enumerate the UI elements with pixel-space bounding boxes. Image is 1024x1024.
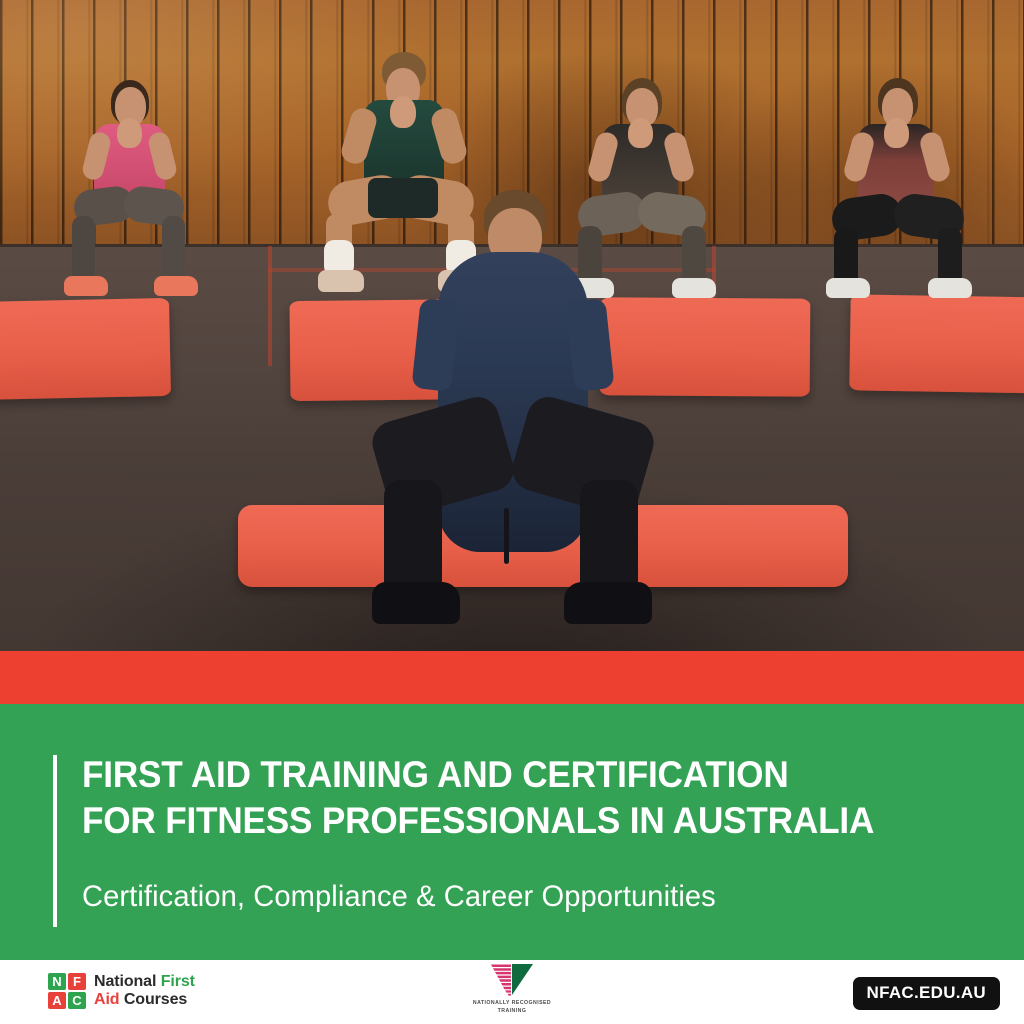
participant-1-shoe-left	[64, 276, 108, 296]
participant-4-shoe-right	[928, 278, 972, 298]
green-content-panel: FIRST AID TRAINING AND CERTIFICATION FOR…	[0, 704, 1024, 960]
participant-4-shoe-left	[826, 278, 870, 298]
participant-1-shoe-right	[154, 276, 198, 296]
page-title-line-2: FOR FITNESS PROFESSIONALS IN AUSTRALIA	[82, 798, 937, 844]
page-title-line-1: FIRST AID TRAINING AND CERTIFICATION	[82, 752, 937, 798]
page-title: FIRST AID TRAINING AND CERTIFICATION FOR…	[82, 752, 937, 844]
nrt-triangle-icon	[489, 964, 535, 998]
instructor-shoe-right	[564, 582, 652, 624]
red-divider-band	[0, 651, 1024, 704]
participant-1-shin-left	[72, 216, 95, 284]
white-accent-bar	[53, 755, 57, 927]
instructor-arm-right	[565, 298, 614, 392]
nrt-caption: Nationally Recognised Training	[473, 1000, 551, 1016]
exercise-mat-4	[849, 294, 1024, 393]
participant-3-shoe-right	[672, 278, 716, 298]
promo-poster: FIRST AID TRAINING AND CERTIFICATION FOR…	[0, 0, 1024, 1024]
participant-4-hands	[884, 118, 909, 148]
floor-court-line-left	[268, 246, 272, 366]
participant-1	[62, 80, 197, 300]
nrt-caption-line-2: Training	[473, 1008, 551, 1016]
instructor-shoe-left	[372, 582, 460, 624]
participant-4	[828, 78, 968, 300]
footer-bar: N F A C National First Aid Courses	[0, 960, 1024, 1024]
hero-photo	[0, 0, 1024, 651]
nrt-caption-line-1: Nationally Recognised	[473, 1000, 551, 1008]
exercise-mat-1	[0, 298, 171, 400]
instructor	[372, 190, 652, 650]
instructor-drawstring	[504, 508, 509, 564]
participant-1-hands	[117, 118, 142, 148]
website-url-badge[interactable]: NFAC.EDU.AU	[853, 977, 1000, 1010]
participant-1-shin-right	[162, 216, 185, 284]
participant-3-hands	[628, 118, 653, 148]
page-subtitle: Certification, Compliance & Career Oppor…	[82, 880, 716, 914]
participant-2-shoe-left	[318, 270, 364, 292]
participant-2-hands	[390, 96, 416, 128]
